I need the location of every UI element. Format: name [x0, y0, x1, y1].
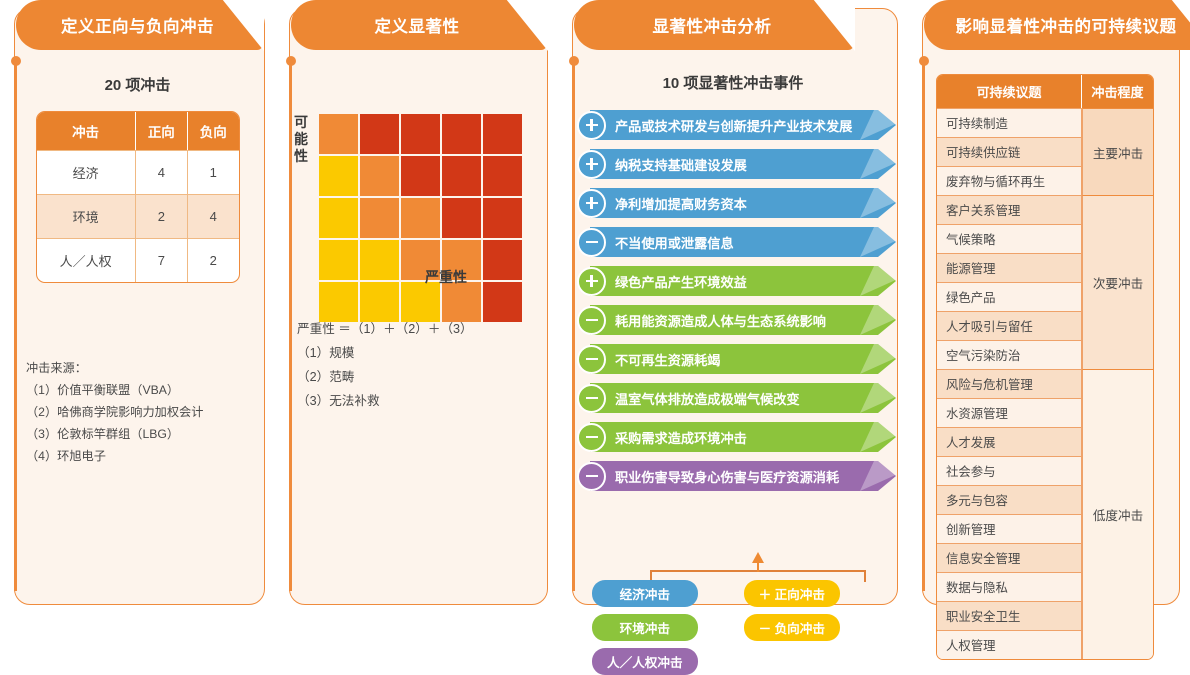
legend-direction-column: ＋正向冲击－负向冲击	[744, 580, 840, 675]
table-row: 风险与危机管理低度冲击	[937, 369, 1153, 398]
heatmap-cell-r4-c1	[319, 240, 358, 280]
cell-issue-name: 创新管理	[937, 514, 1082, 543]
materiality-matrix: 可能性	[319, 114, 522, 322]
heatmap-cell-r1-c1	[319, 114, 358, 154]
cell-issue-name: 客户关系管理	[937, 195, 1082, 224]
heatmap-cell-r2-c3	[401, 156, 440, 196]
cell-impact-level: 低度冲击	[1082, 369, 1153, 659]
panel-banner: 显著性冲击分析	[574, 0, 854, 50]
table-row: 人／人权 7 2	[37, 238, 239, 282]
ribbon-highlight	[850, 461, 896, 491]
panel-title: 定义正向与负向冲击	[61, 13, 214, 37]
panel-define-materiality: 定义显著性 可能性 严重性 严重性 ＝（1）＋（2）＋（3） （1）规模 （2）…	[275, 0, 558, 617]
matrix-x-axis-label: 严重性	[425, 267, 467, 287]
cell-issue-name: 可持续供应链	[937, 137, 1082, 166]
sources-label: 冲击来源：	[26, 357, 263, 379]
panel-body: 20 项冲击 冲击 正向 负向 经济 4 1 环境	[0, 52, 275, 617]
source-item: （1）价值平衡联盟（VBA）	[26, 379, 263, 401]
legend-sign-icon: ＋	[759, 584, 771, 603]
heatmap-cell-r2-c2	[360, 156, 399, 196]
impact-legend: 经济冲击环境冲击人／人权冲击 ＋正向冲击－负向冲击	[592, 580, 894, 675]
formula-item: （3）无法补救	[297, 389, 473, 413]
panel-stem-line	[922, 62, 925, 591]
cell-negative: 4	[188, 194, 239, 238]
heatmap-cell-r3-c4	[442, 198, 481, 238]
heatmap-cell-r2-c5	[483, 156, 522, 196]
cell-negative: 1	[188, 150, 239, 194]
heatmap-cell-r5-c4	[442, 282, 481, 322]
impact-event-label: 温室气体排放造成极端气候改变	[615, 389, 800, 408]
cell-issue-name: 水资源管理	[937, 398, 1082, 427]
heatmap-cell-r5-c1	[319, 282, 358, 322]
formula-item: （2）范畴	[297, 365, 473, 389]
cell-positive: 7	[136, 238, 188, 282]
cell-impact: 人／人权	[37, 238, 136, 282]
impact-event-label: 采购需求造成环境冲击	[615, 428, 747, 447]
impact-event-bar[interactable]: 产品或技术研发与创新提升产业技术发展	[576, 110, 900, 140]
plus-icon	[577, 189, 606, 218]
table-row: 环境 2 4	[37, 194, 239, 238]
minus-icon	[577, 228, 606, 257]
panel-stem-line	[572, 62, 575, 591]
cell-positive: 4	[136, 150, 188, 194]
formula-line: 严重性 ＝（1）＋（2）＋（3）	[297, 317, 473, 341]
impact-event-label: 职业伤害导致身心伤害与医疗资源消耗	[615, 467, 839, 486]
panel-define-impacts: 定义正向与负向冲击 20 项冲击 冲击 正向 负向 经济 4 1	[0, 0, 275, 617]
ribbon-highlight	[850, 110, 896, 140]
impact-event-bar[interactable]: 耗用能资源造成人体与生态系统影响	[576, 305, 900, 335]
cell-issue-name: 多元与包容	[937, 485, 1082, 514]
heatmap-cell-r4-c2	[360, 240, 399, 280]
ribbon-highlight	[850, 344, 896, 374]
panel-title: 影响显着性冲击的可持续议题	[956, 13, 1177, 37]
col-header-issue: 可持续议题	[937, 75, 1082, 108]
legend-pill-direction: －负向冲击	[744, 614, 840, 641]
table-row: 客户关系管理次要冲击	[937, 195, 1153, 224]
heatmap-cell-r5-c5	[483, 282, 522, 322]
impact-event-bar[interactable]: 纳税支持基础建设发展	[576, 149, 900, 179]
impact-sources: 冲击来源： （1）价值平衡联盟（VBA） （2）哈佛商学院影响力加权会计 （3）…	[26, 357, 263, 467]
table-row: 可持续制造主要冲击	[937, 108, 1153, 137]
minus-icon	[577, 345, 606, 374]
ribbon-highlight	[850, 422, 896, 452]
minus-icon	[577, 306, 606, 335]
impact-event-bar[interactable]: 不可再生资源耗竭	[576, 344, 900, 374]
up-arrow-icon	[752, 552, 764, 563]
cell-issue-name: 能源管理	[937, 253, 1082, 282]
table-row: 经济 4 1	[37, 150, 239, 194]
cell-issue-name: 空气污染防治	[937, 340, 1082, 369]
cell-negative: 2	[188, 238, 239, 282]
table-header-row: 冲击 正向 负向	[37, 112, 239, 150]
ribbon-highlight	[850, 149, 896, 179]
heatmap-cell-r1-c3	[401, 114, 440, 154]
cell-issue-name: 人才发展	[937, 427, 1082, 456]
impact-event-bar[interactable]: 绿色产品产生环境效益	[576, 266, 900, 296]
ribbon-highlight	[850, 266, 896, 296]
heatmap-grid	[319, 114, 522, 322]
col-header-impact: 冲击	[37, 112, 136, 150]
sustainability-issues-table: 可持续议题 冲击程度 可持续制造主要冲击可持续供应链废弃物与循环再生客户关系管理…	[936, 74, 1154, 660]
cell-impact-level: 主要冲击	[1082, 108, 1153, 195]
minus-icon	[577, 462, 606, 491]
heatmap-cell-r1-c2	[360, 114, 399, 154]
panel-banner: 定义显著性	[291, 0, 547, 50]
col-header-level: 冲击程度	[1082, 75, 1153, 108]
ribbon-highlight	[850, 227, 896, 257]
cell-issue-name: 气候策略	[937, 224, 1082, 253]
heatmap-cell-r3-c1	[319, 198, 358, 238]
panel-materiality-analysis: 显著性冲击分析 10 项显著性冲击事件 产品或技术研发与创新提升产业技术发展纳税…	[558, 0, 908, 617]
impact-event-label: 产品或技术研发与创新提升产业技术发展	[615, 116, 852, 135]
up-arrow-tail	[757, 562, 759, 572]
cell-issue-name: 风险与危机管理	[937, 369, 1082, 398]
panel-subtitle: 10 项显著性冲击事件	[558, 72, 908, 93]
impact-event-label: 不当使用或泄露信息	[615, 233, 734, 252]
ribbon-highlight	[850, 305, 896, 335]
panel-body: 10 项显著性冲击事件 产品或技术研发与创新提升产业技术发展纳税支持基础建设发展…	[558, 52, 908, 617]
impact-event-bar[interactable]: 职业伤害导致身心伤害与医疗资源消耗	[576, 461, 900, 491]
heatmap-cell-r5-c3	[401, 282, 440, 322]
heatmap-cell-r3-c5	[483, 198, 522, 238]
impact-event-bar[interactable]: 不当使用或泄露信息	[576, 227, 900, 257]
heatmap-cell-r1-c5	[483, 114, 522, 154]
cell-issue-name: 废弃物与循环再生	[937, 166, 1082, 195]
legend-pill-category: 经济冲击	[592, 580, 698, 607]
cell-issue-name: 社会参与	[937, 456, 1082, 485]
legend-connector	[650, 570, 866, 571]
cell-issue-name: 可持续制造	[937, 108, 1082, 137]
legend-pill-category: 人／人权冲击	[592, 648, 698, 675]
heatmap-cell-r2-c1	[319, 156, 358, 196]
panel-sustainability-issues: 影响显着性冲击的可持续议题 可持续议题 冲击程度 可持续制造主要冲击可持续供应链…	[908, 0, 1190, 617]
impact-event-label: 不可再生资源耗竭	[615, 350, 721, 369]
panel-body: 可持续议题 冲击程度 可持续制造主要冲击可持续供应链废弃物与循环再生客户关系管理…	[908, 52, 1190, 617]
cell-impact: 经济	[37, 150, 136, 194]
panel-banner: 影响显着性冲击的可持续议题	[924, 0, 1190, 50]
legend-sign-icon: －	[759, 618, 771, 637]
cell-issue-name: 人权管理	[937, 630, 1082, 659]
panel-stem-line	[289, 62, 292, 591]
panel-banner: 定义正向与负向冲击	[16, 0, 263, 50]
impact-event-bar[interactable]: 净利增加提高财务资本	[576, 188, 900, 218]
heatmap-cell-r4-c5	[483, 240, 522, 280]
heatmap-cell-r3-c2	[360, 198, 399, 238]
table-header-row: 可持续议题 冲击程度	[937, 75, 1153, 108]
cell-issue-name: 数据与隐私	[937, 572, 1082, 601]
plus-icon	[577, 111, 606, 140]
plus-icon	[577, 150, 606, 179]
col-header-positive: 正向	[136, 112, 188, 150]
cell-issue-name: 绿色产品	[937, 282, 1082, 311]
source-item: （2）哈佛商学院影响力加权会计	[26, 401, 263, 423]
cell-issue-name: 信息安全管理	[937, 543, 1082, 572]
legend-pill-direction: ＋正向冲击	[744, 580, 840, 607]
heatmap-cell-r3-c3	[401, 198, 440, 238]
col-header-negative: 负向	[188, 112, 239, 150]
minus-icon	[577, 384, 606, 413]
panel-title: 定义显著性	[375, 13, 460, 37]
ribbon-highlight	[850, 383, 896, 413]
panel-stem-line	[14, 62, 17, 591]
impact-event-label: 净利增加提高财务资本	[615, 194, 747, 213]
impact-event-label: 绿色产品产生环境效益	[615, 272, 747, 291]
impact-event-bar[interactable]: 采购需求造成环境冲击	[576, 422, 900, 452]
impacts-table: 冲击 正向 负向 经济 4 1 环境 2 4	[36, 111, 240, 283]
legend-category-column: 经济冲击环境冲击人／人权冲击	[592, 580, 698, 675]
formula-item: （1）规模	[297, 341, 473, 365]
source-item: （3）伦敦标竿群组（LBG）	[26, 423, 263, 445]
infographic-board: 定义正向与负向冲击 20 项冲击 冲击 正向 负向 经济 4 1	[0, 0, 1190, 617]
legend-pill-category: 环境冲击	[592, 614, 698, 641]
panel-body: 可能性 严重性 严重性 ＝（1）＋（2）＋（3） （1）规模 （2）范畴 （3）…	[275, 52, 558, 617]
panel-subtitle: 20 项冲击	[0, 74, 275, 95]
matrix-y-axis-label: 可能性	[291, 114, 311, 165]
cell-issue-name: 职业安全卫生	[937, 601, 1082, 630]
impact-event-list: 产品或技术研发与创新提升产业技术发展纳税支持基础建设发展净利增加提高财务资本不当…	[576, 110, 900, 500]
cell-issue-name: 人才吸引与留任	[937, 311, 1082, 340]
plus-icon	[577, 267, 606, 296]
source-item: （4）环旭电子	[26, 445, 263, 467]
severity-formula: 严重性 ＝（1）＋（2）＋（3） （1）规模 （2）范畴 （3）无法补救	[297, 317, 473, 413]
cell-impact-level: 次要冲击	[1082, 195, 1153, 369]
heatmap-cell-r5-c2	[360, 282, 399, 322]
cell-impact: 环境	[37, 194, 136, 238]
panel-title: 显著性冲击分析	[653, 13, 772, 37]
cell-positive: 2	[136, 194, 188, 238]
ribbon-highlight	[850, 188, 896, 218]
impact-event-bar[interactable]: 温室气体排放造成极端气候改变	[576, 383, 900, 413]
impact-event-label: 耗用能资源造成人体与生态系统影响	[615, 311, 826, 330]
minus-icon	[577, 423, 606, 452]
heatmap-cell-r1-c4	[442, 114, 481, 154]
impact-event-label: 纳税支持基础建设发展	[615, 155, 747, 174]
heatmap-cell-r2-c4	[442, 156, 481, 196]
